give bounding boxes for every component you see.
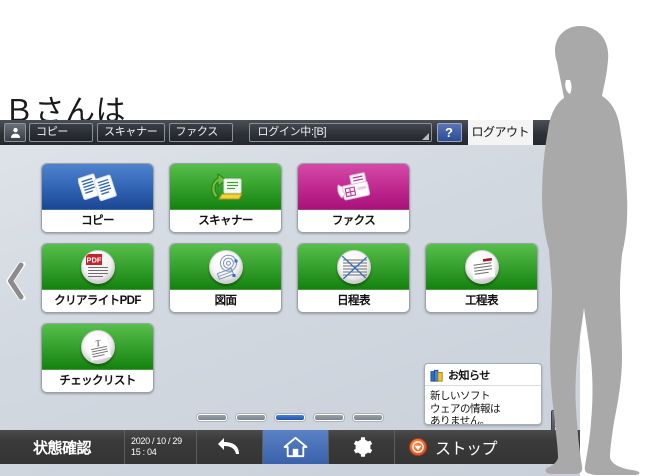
- page-indicator: [0, 410, 580, 424]
- tile-drawing[interactable]: 図面: [169, 243, 282, 313]
- status-check-button[interactable]: 状態確認: [0, 430, 125, 464]
- clock-time: 15 : 04: [131, 447, 196, 458]
- tile-scanner[interactable]: スキャナー: [169, 163, 282, 233]
- tile-label: コピー: [42, 210, 153, 233]
- tile-label: クリアライトPDF: [42, 290, 153, 313]
- fax-icon: [298, 164, 409, 210]
- copy-icon: [42, 164, 153, 210]
- pdf-disc-icon: PDF: [42, 244, 153, 290]
- tile-label: チェックリスト: [42, 370, 153, 393]
- drawing-disc-icon: [170, 244, 281, 290]
- tile-copy[interactable]: コピー: [41, 163, 154, 233]
- tab-scanner[interactable]: スキャナー: [97, 123, 165, 142]
- page-dot-2[interactable]: [236, 414, 266, 421]
- back-button[interactable]: [197, 430, 263, 464]
- checklist-disc-icon: T: [42, 324, 153, 370]
- tile-label: スキャナー: [170, 210, 281, 233]
- page-dot-4[interactable]: [314, 414, 344, 421]
- svg-text:PDF: PDF: [86, 255, 101, 264]
- tab-fax[interactable]: ファクス: [169, 123, 233, 142]
- scanner-icon: [170, 164, 281, 210]
- stop-label: ストップ: [435, 435, 497, 459]
- login-status-field[interactable]: ログイン中:[B]: [249, 123, 432, 142]
- person-silhouette: [500, 24, 650, 476]
- page-dot-1[interactable]: [197, 414, 227, 421]
- clock-date: 2020 / 10 / 29: [131, 436, 196, 447]
- tile-label: ファクス: [298, 210, 409, 233]
- tab-copy[interactable]: コピー: [29, 123, 93, 142]
- books-icon: [430, 369, 444, 382]
- gear-icon: [351, 436, 373, 458]
- tile-schedule[interactable]: 日程表: [297, 243, 410, 313]
- home-button[interactable]: [263, 430, 329, 464]
- user-icon[interactable]: [4, 123, 26, 142]
- screenshot-root: Ｂさんは スキャン業務が多い コピー スキャナー ファクス ログイン中:[B] …: [0, 0, 650, 476]
- tile-clearlight-pdf[interactable]: PDF クリアライトPDF: [41, 243, 154, 313]
- home-icon: [283, 436, 308, 458]
- help-button[interactable]: ?: [437, 123, 462, 142]
- tile-label: 日程表: [298, 290, 409, 313]
- back-arrow-icon: [217, 436, 243, 458]
- schedule-disc-icon: [298, 244, 409, 290]
- notification-title: お知らせ: [448, 367, 490, 383]
- clock-display: 2020 / 10 / 29 15 : 04: [125, 430, 197, 464]
- bottom-bar: 状態確認 2020 / 10 / 29 15 : 04: [0, 430, 580, 464]
- stop-icon: [409, 438, 427, 456]
- settings-button[interactable]: [329, 430, 395, 464]
- tile-grid: コピー スキャナー: [0, 145, 580, 430]
- tile-label: 図面: [170, 290, 281, 313]
- page-dot-5[interactable]: [353, 414, 383, 421]
- page-dot-3[interactable]: [275, 414, 305, 421]
- device-control-panel: コピー スキャナー ファクス ログイン中:[B] ? ログアウト: [0, 120, 580, 476]
- top-bar: コピー スキャナー ファクス ログイン中:[B] ? ログアウト: [0, 120, 580, 145]
- tile-checklist[interactable]: T チェックリスト: [41, 323, 154, 393]
- tile-fax[interactable]: ファクス: [297, 163, 410, 233]
